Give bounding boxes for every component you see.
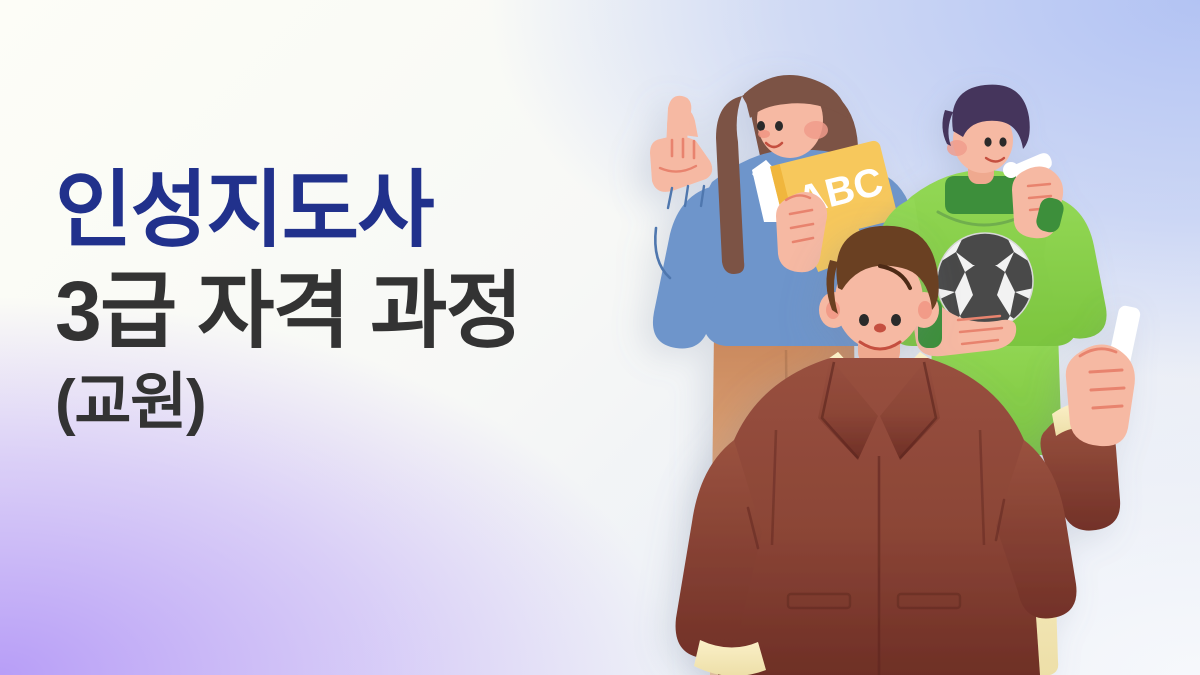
title-line-3: (교원) <box>55 372 521 434</box>
course-banner: ABC <box>0 0 1200 675</box>
title-line-2: 3급 자격 과정 <box>55 269 521 353</box>
page-title: 인성지도사 3급 자격 과정 (교원) <box>55 168 521 434</box>
title-line-1: 인성지도사 <box>55 168 521 252</box>
